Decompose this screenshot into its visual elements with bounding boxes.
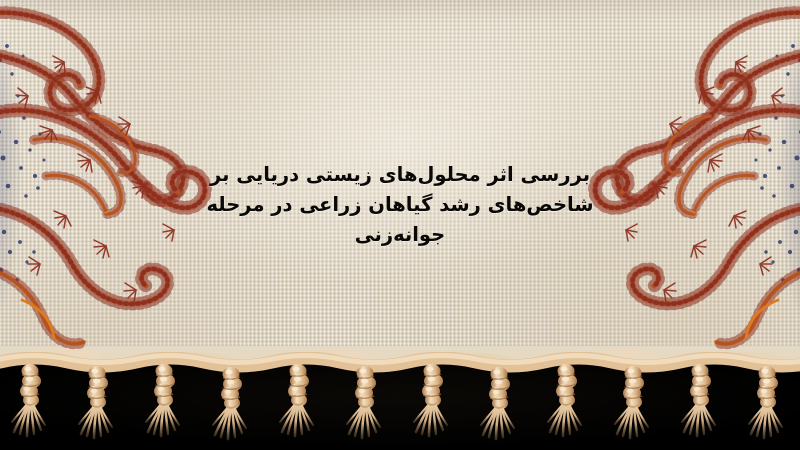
tassel [79, 366, 112, 438]
title-line-3: جوانه‌زنی [180, 220, 620, 250]
tassel [213, 367, 246, 439]
fringe-header-cord [0, 356, 800, 367]
title-line-2: شاخص‌های رشد گیاهان زراعی در مرحله [180, 190, 620, 220]
tassel [615, 366, 648, 438]
tassel [12, 364, 45, 436]
title-line-1: بررسی اثر محلول‌های زیستی دریایی بر [180, 160, 620, 190]
page-title: بررسی اثر محلول‌های زیستی دریایی بر شاخص… [180, 160, 620, 250]
tassel [548, 364, 581, 436]
tassel [280, 364, 313, 436]
title-slide: بررسی اثر محلول‌های زیستی دریایی بر شاخص… [0, 0, 800, 450]
tassel [146, 364, 179, 436]
tassel [682, 364, 715, 436]
tassel-fringe [0, 352, 800, 450]
tassel [347, 366, 380, 438]
tassel [481, 367, 514, 439]
tassel [749, 366, 782, 438]
tassel-row [12, 364, 782, 439]
tassel [414, 364, 447, 436]
